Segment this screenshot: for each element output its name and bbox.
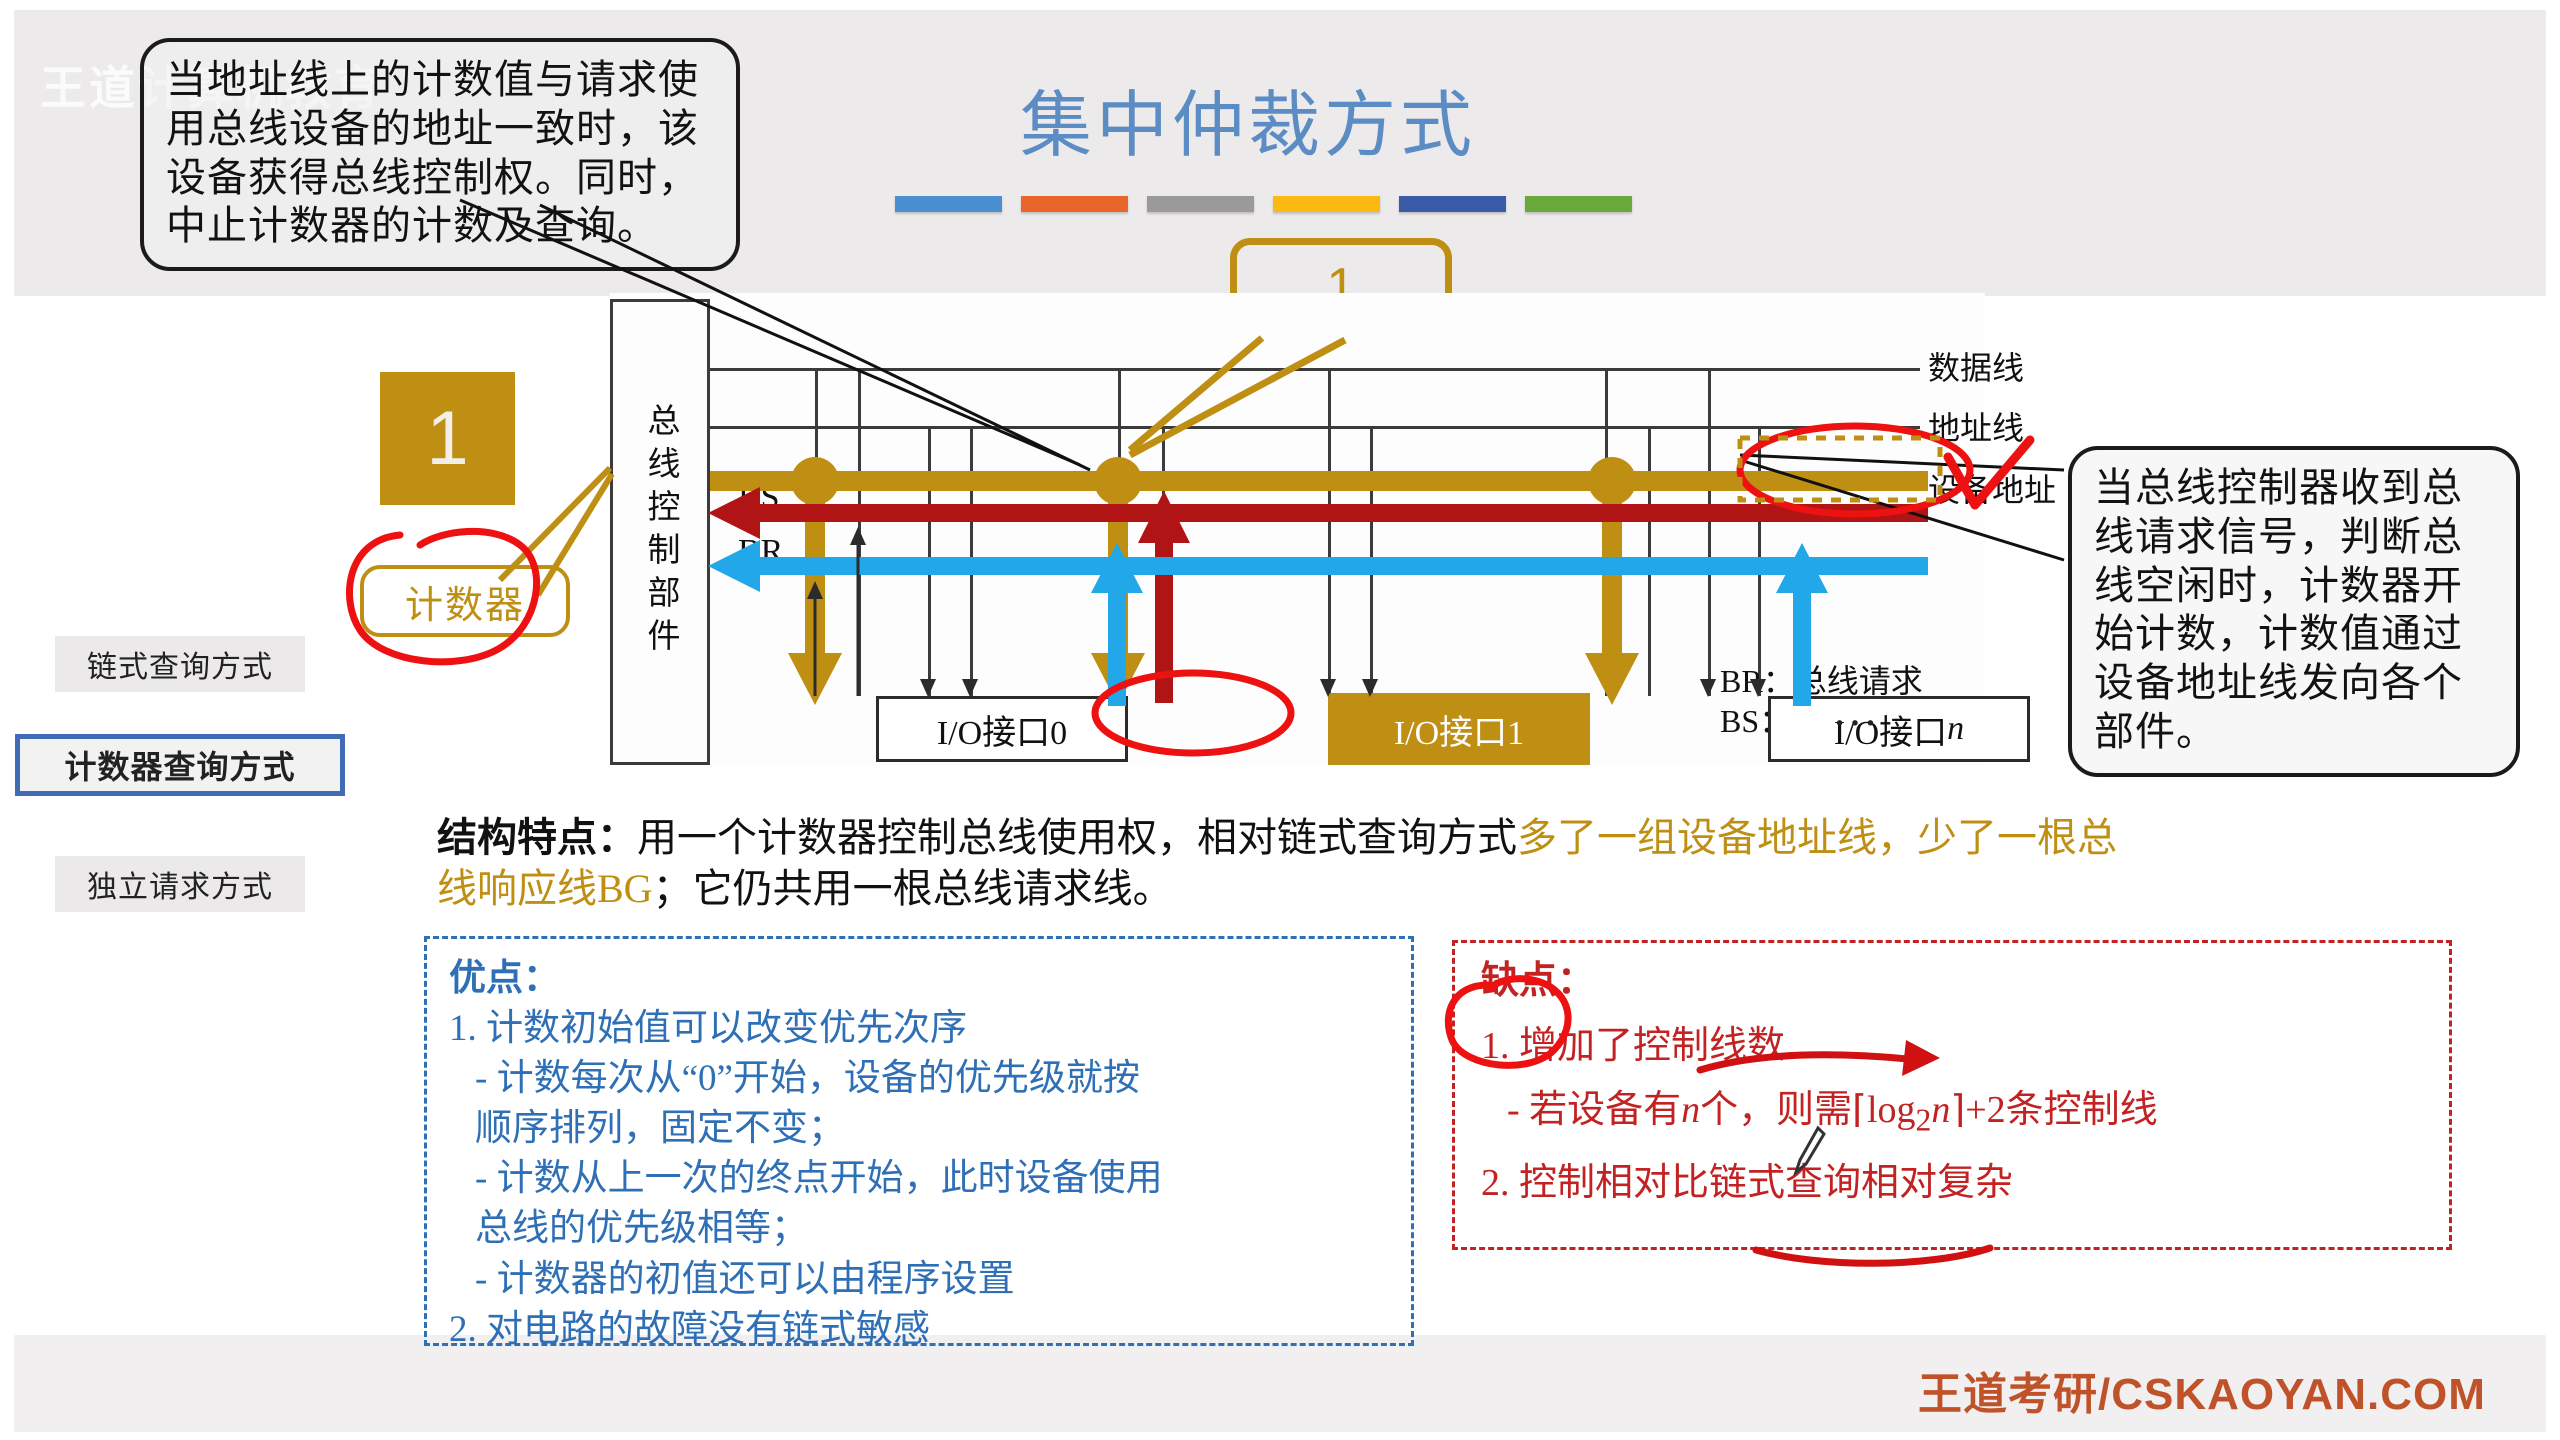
step-badge-one: 1: [380, 372, 515, 505]
advantages-box: 优点： 1. 计数初始值可以改变优先次序 - 计数每次从“0”开始，设备的优先级…: [424, 936, 1414, 1346]
structure-feature-label: 结构特点: [437, 815, 597, 860]
callout-left-text: 当地址线上的计数值与请求使用总线设备的地址一致时，该设备获得总线控制权。同时，中…: [140, 38, 740, 271]
bar-gray: [1147, 196, 1254, 212]
disadvantages-item-1a: - 若设备有n个，则需⌈log2n⌉+2条控制线: [1481, 1086, 2431, 1141]
advantages-item-1b-cont: 总线的优先级相等；: [449, 1205, 1393, 1253]
advantages-item-1c: - 计数器的初值还可以由程序设置: [449, 1256, 1393, 1304]
advantages-item-1: 1. 计数初始值可以改变优先次序: [449, 1005, 1393, 1053]
formula-mid: 个，则需⌈log: [1700, 1089, 1915, 1131]
bar-darkblue: [1399, 196, 1506, 212]
slide-edge-left: [0, 0, 14, 1440]
bus-arbitration-diagram: 总线控制部件 BS BR 数据线 地址线 设备地址 BR：总线请求 BS：总线忙…: [610, 293, 1985, 766]
advantages-item-1a: - 计数每次从“0”开始，设备的优先级就按: [449, 1055, 1393, 1103]
formula-sub-2: 2: [1916, 1102, 1932, 1137]
advantages-heading: 优点：: [449, 955, 1393, 1003]
slide-edge-right: [2546, 0, 2560, 1440]
counter-callout-label: 计数器: [360, 565, 570, 637]
bar-orange: [1021, 196, 1128, 212]
disadvantages-heading: 缺点：: [1481, 957, 2431, 1006]
structure-feature-text-a: 用一个计数器控制总线使用权，相对链式查询方式: [637, 815, 1517, 860]
bar-blue: [895, 196, 1002, 212]
formula-var-n1: n: [1681, 1089, 1700, 1131]
slide-edge-top: [0, 0, 2560, 10]
bar-yellow: [1273, 196, 1380, 212]
sidebar-item-chain-query[interactable]: 链式查询方式: [55, 636, 305, 692]
bs-bus-red: [708, 487, 1928, 703]
advantages-item-1b: - 计数从上一次的终点开始，此时设备使用: [449, 1155, 1393, 1203]
advantages-item-1a-cont: 顺序排列，固定不变；: [449, 1105, 1393, 1153]
sidebar-item-independent[interactable]: 独立请求方式: [55, 856, 305, 912]
formula-suffix: ⌉+2条控制线: [1950, 1089, 2157, 1131]
formula-var-n2: n: [1931, 1089, 1950, 1131]
slide-canvas: 王道计算机教育 集中仲裁方式 当地址线上的计数值与请求使用总线设备的地址一致时，…: [0, 0, 2560, 1440]
page-title: 集中仲裁方式: [1020, 66, 1476, 171]
structure-feature-colon: ：: [597, 815, 637, 860]
device-address-bus-gold: [710, 457, 1928, 705]
thin-drop-arrowheads: [920, 679, 1766, 697]
advantages-item-2: 2. 对电路的故障没有链式敏感: [449, 1306, 1393, 1354]
formula-prefix: - 若设备有: [1507, 1089, 1681, 1131]
callout-right-text: 当总线控制器收到总线请求信号，判断总线空闲时，计数器开始计数，计数值通过设备地址…: [2068, 446, 2520, 777]
disadvantages-box: 缺点： 1. 增加了控制线数 - 若设备有n个，则需⌈log2n⌉+2条控制线 …: [1452, 940, 2452, 1250]
structure-feature-text-b: ；它仍共用一根总线请求线。: [653, 866, 1173, 911]
disadvantages-item-1: 1. 增加了控制线数: [1481, 1022, 2431, 1071]
structure-feature-line: 结构特点：用一个计数器控制总线使用权，相对链式查询方式多了一组设备地址线，少了一…: [437, 812, 2137, 914]
accent-bar-row: [895, 196, 1632, 212]
br-bus-blue: [708, 540, 1928, 706]
disadvantages-item-2: 2. 控制相对比链式查询相对复杂: [1481, 1159, 2431, 1208]
brand-watermark: 王道考研/CSKAOYAN.COM: [1918, 1358, 2486, 1422]
diagram-colored-buses: [610, 293, 1985, 766]
bar-green: [1525, 196, 1632, 212]
sidebar-item-counter-query[interactable]: 计数器查询方式: [15, 734, 345, 796]
slide-edge-bottom: [0, 1432, 2560, 1440]
